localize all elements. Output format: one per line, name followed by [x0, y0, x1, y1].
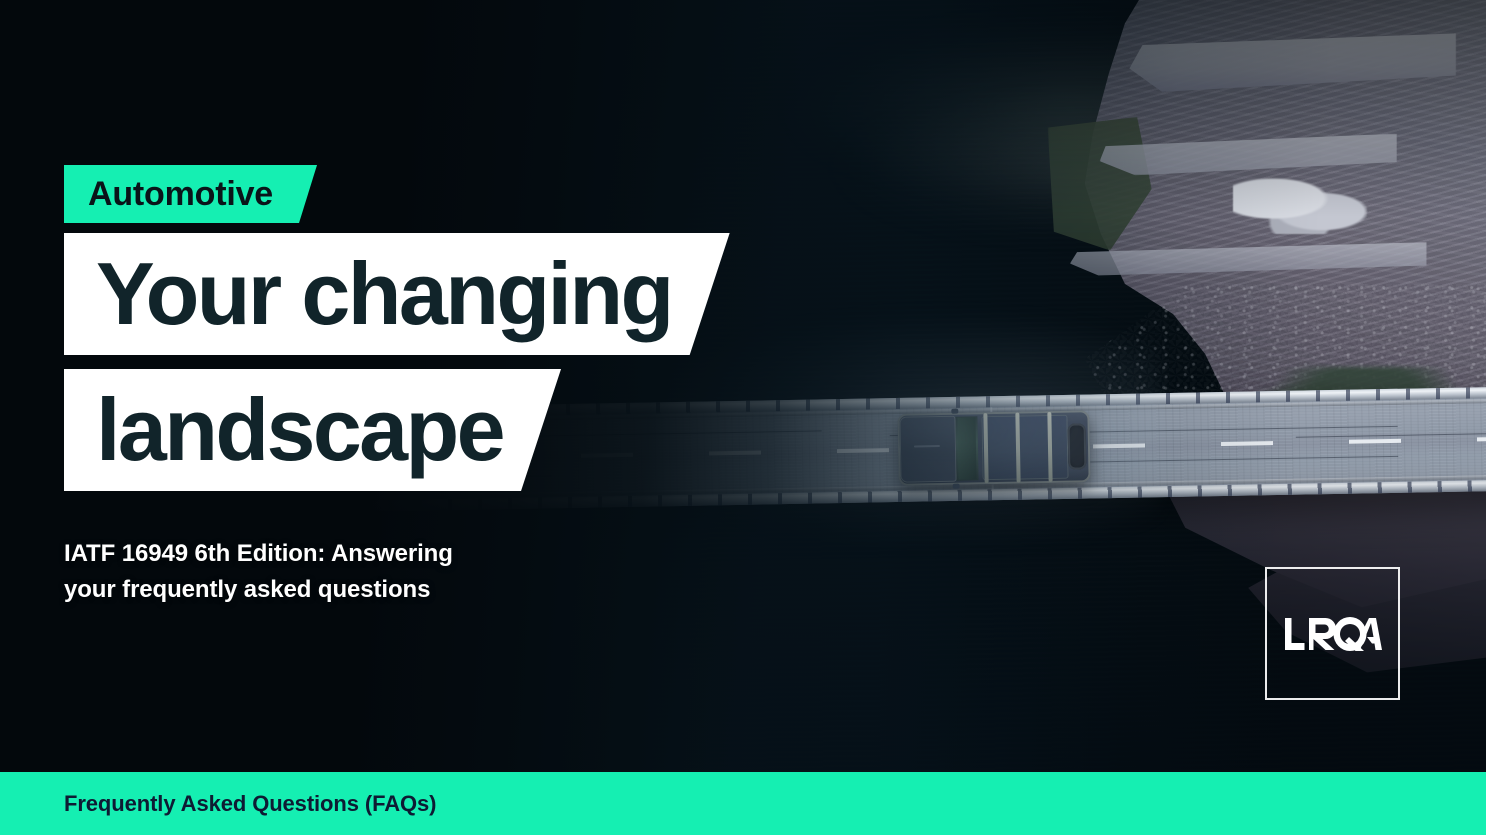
cover-slide: Automotive Your changing landscape IATF …: [0, 0, 1486, 835]
category-badge-label: Automotive: [88, 177, 273, 211]
lrqa-wordmark-icon: [1284, 617, 1382, 651]
lrqa-logo-inner: LRQA: [1267, 569, 1398, 698]
cover-content: Automotive Your changing landscape IATF …: [0, 0, 1486, 835]
footer-bar: Frequently Asked Questions (FAQs): [0, 772, 1486, 835]
title-banner-line-2: landscape: [64, 369, 561, 491]
lrqa-logo: LRQA: [1265, 567, 1400, 700]
footer-label: Frequently Asked Questions (FAQs): [64, 793, 436, 815]
title-banner-line-1: Your changing: [64, 233, 730, 355]
category-badge: Automotive: [64, 165, 317, 223]
subtitle: IATF 16949 6th Edition: Answering your f…: [64, 536, 544, 608]
subtitle-line-2: your frequently asked questions: [64, 572, 544, 608]
subtitle-line-1: IATF 16949 6th Edition: Answering: [64, 536, 544, 572]
page-title-line-1: Your changing: [96, 250, 672, 338]
page-title-line-2: landscape: [96, 386, 503, 474]
